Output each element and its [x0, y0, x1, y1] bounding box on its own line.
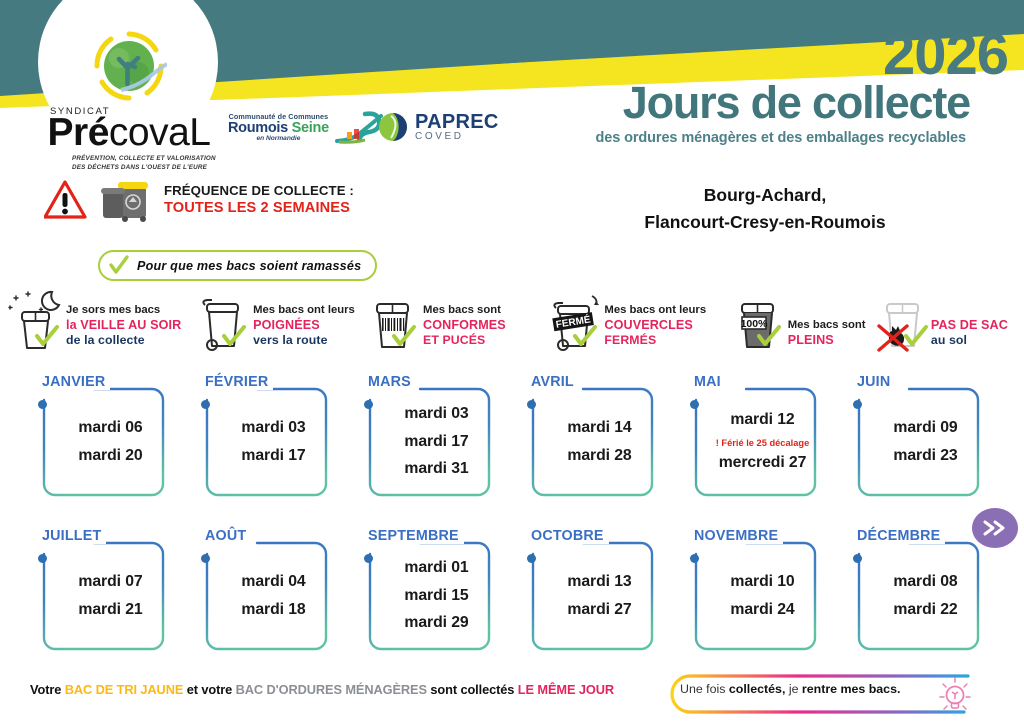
instr-4-line2: COUVERCLES: [604, 318, 706, 333]
roumois-line3: en Normandie: [228, 136, 329, 143]
month-box: mardi 12! Férié le 25 décalagemercredi 2…: [694, 387, 817, 497]
collection-date: mardi 07: [78, 570, 142, 594]
month-name: DÉCEMBRE: [857, 528, 945, 544]
month-dates: mardi 09mardi 23: [857, 387, 980, 497]
instr-5-line1: Mes bacs sont: [788, 319, 866, 333]
month-box: mardi 07mardi 21: [42, 541, 165, 651]
month-marker-dot: [527, 400, 536, 409]
month-box: mardi 06mardi 20: [42, 387, 165, 497]
month-dates: mardi 06mardi 20: [42, 387, 165, 497]
month-dates: mardi 12! Férié le 25 décalagemercredi 2…: [694, 387, 817, 497]
month-name: OCTOBRE: [531, 528, 609, 544]
instruction-item-conformes: Mes bacs sont CONFORMES ET PUCÉS: [365, 288, 546, 352]
instr-5-line2: PLEINS: [788, 333, 866, 348]
month-box: mardi 03mardi 17mardi 31: [368, 387, 491, 497]
instr-2-line2: POIGNÉES: [253, 318, 355, 333]
collection-date: mardi 21: [78, 598, 142, 622]
month-card: OCTOBREmardi 13mardi 27: [511, 528, 674, 680]
month-marker-dot: [201, 400, 210, 409]
communes-heading: Bourg-Achard, Flancourt-Cresy-en-Roumois: [520, 182, 1010, 236]
month-dates: mardi 14mardi 28: [531, 387, 654, 497]
month-card: MAImardi 12! Férié le 25 décalagemercred…: [674, 374, 837, 526]
instr-1-line2: la VEILLE AU SOIR: [66, 318, 181, 333]
collection-date: mardi 17: [241, 444, 305, 468]
calendar-row-first-half: JANVIERmardi 06mardi 20FÉVRIERmardi 03ma…: [22, 374, 1002, 526]
roumois-line2: Roumois Seine: [228, 121, 329, 136]
month-card: AOÛTmardi 04mardi 18: [185, 528, 348, 680]
month-dates: mardi 04mardi 18: [205, 541, 328, 651]
month-name: SEPTEMBRE: [368, 528, 464, 544]
month-box: mardi 08mardi 22: [857, 541, 980, 651]
month-marker-dot: [853, 400, 862, 409]
month-box: mardi 04mardi 18: [205, 541, 328, 651]
month-dates: mardi 07mardi 21: [42, 541, 165, 651]
month-marker-dot: [690, 554, 699, 563]
instruction-item-pas-de-sac: PAS DE SAC au sol: [873, 288, 1018, 352]
collection-date: mardi 01: [404, 556, 468, 580]
month-card: JANVIERmardi 06mardi 20: [22, 374, 185, 526]
green-check-icon: [903, 324, 929, 350]
collection-date: mardi 08: [893, 570, 957, 594]
partner-logo-paprec-coved: PAPREC COVED: [378, 112, 499, 142]
collection-date: mercredi 27: [719, 451, 807, 475]
month-name: MARS: [368, 374, 416, 390]
no-bag-on-ground-icon: [873, 288, 929, 352]
bin-full-100-icon: 100%: [730, 288, 786, 352]
collection-date: mardi 10: [730, 570, 794, 594]
collection-date: mardi 27: [567, 598, 631, 622]
collection-date: mardi 18: [241, 598, 305, 622]
frequency-value: TOUTES LES 2 SEMAINES: [164, 199, 354, 217]
tip-p2: collectés,: [729, 682, 785, 696]
collection-date: mardi 24: [730, 598, 794, 622]
month-name: AOÛT: [205, 528, 251, 544]
collection-date: mardi 04: [241, 570, 305, 594]
month-dates: mardi 01mardi 15mardi 29: [368, 541, 491, 651]
collection-date: mardi 31: [404, 457, 468, 481]
coved-name: COVED: [415, 132, 499, 142]
month-dates: mardi 13mardi 27: [531, 541, 654, 651]
month-box: mardi 13mardi 27: [531, 541, 654, 651]
month-card: SEPTEMBREmardi 01mardi 15mardi 29: [348, 528, 511, 680]
warning-triangle-icon: [44, 179, 88, 221]
collection-calendar: JANVIERmardi 06mardi 20FÉVRIERmardi 03ma…: [22, 374, 1002, 680]
month-card: FÉVRIERmardi 03mardi 17: [185, 374, 348, 526]
lightbulb-icon: [938, 676, 972, 712]
month-card: MARSmardi 03mardi 17mardi 31: [348, 374, 511, 526]
footer-p3: et votre: [183, 682, 235, 697]
instr-2-line1: Mes bacs ont leurs: [253, 304, 355, 318]
calendar-row-second-half: JUILLETmardi 07mardi 21AOÛTmardi 04mardi…: [22, 528, 1002, 680]
month-card: DÉCEMBREmardi 08mardi 22: [837, 528, 1000, 680]
footer-p1: Votre: [30, 682, 65, 697]
tips-pill-label: Pour que mes bacs soient ramassés: [137, 259, 361, 273]
tip-p4: rentre mes bacs.: [802, 682, 901, 696]
bin-barcode-icon: [365, 288, 421, 352]
paprec-globe-icon: [378, 112, 408, 142]
month-name: FÉVRIER: [205, 374, 273, 390]
footer-tip-text: Une fois collectés, je rentre mes bacs.: [680, 682, 930, 696]
tree-recycle-icon: [91, 28, 167, 104]
month-card: JUILLETmardi 07mardi 21: [22, 528, 185, 680]
double-chevron-right-icon[interactable]: [972, 508, 1018, 548]
month-marker-dot: [201, 554, 210, 563]
month-card: JUINmardi 09mardi 23: [837, 374, 1000, 526]
collection-date: mardi 17: [404, 430, 468, 454]
two-bins-icon: [98, 178, 154, 222]
instr-3-line2: CONFORMES: [423, 318, 506, 333]
month-box: mardi 01mardi 15mardi 29: [368, 541, 491, 651]
partner-logo-roumois-seine: Communauté de Communes Roumois Seine en …: [228, 110, 391, 146]
collection-date: mardi 20: [78, 444, 142, 468]
month-box: mardi 10mardi 24: [694, 541, 817, 651]
month-box: mardi 03mardi 17: [205, 387, 328, 497]
month-name: JANVIER: [42, 374, 110, 390]
logo-wordmark: PrécovaL: [34, 113, 224, 152]
instruction-item-pleins: 100% Mes bacs sont PLEINS: [730, 288, 873, 352]
footer-yellow-bin: BAC DE TRI JAUNE: [65, 682, 184, 697]
instr-1-line3: de la collecte: [66, 333, 181, 348]
month-name: JUILLET: [42, 528, 106, 544]
instr-4-line3: FERMÉS: [604, 333, 706, 348]
month-marker-dot: [364, 554, 373, 563]
bin-night-moon-icon: [8, 288, 64, 352]
collection-date: mardi 09: [893, 416, 957, 440]
footer-same-day: LE MÊME JOUR: [518, 682, 614, 697]
collection-date: mardi 12: [730, 408, 794, 432]
commune-line-1: Bourg-Achard,: [520, 182, 1010, 209]
instr-4-line1: Mes bacs ont leurs: [604, 304, 706, 318]
month-dates: mardi 03mardi 17mardi 31: [368, 387, 491, 497]
frequency-label: FRÉQUENCE DE COLLECTE :: [164, 183, 354, 200]
month-box: mardi 14mardi 28: [531, 387, 654, 497]
month-dates: mardi 08mardi 22: [857, 541, 980, 651]
green-check-icon: [108, 254, 130, 278]
instr-3-line3: ET PUCÉS: [423, 333, 506, 348]
instr-6-line3: au sol: [931, 333, 1008, 348]
bin-closed-lid-icon: FERMÉ: [546, 288, 602, 352]
month-marker-dot: [527, 554, 536, 563]
collection-date: mardi 03: [241, 416, 305, 440]
instruction-item-poignees: Mes bacs ont leurs POIGNÉES vers la rout…: [195, 288, 365, 352]
page-year: 2026: [883, 26, 1008, 84]
paprec-name: PAPREC: [415, 112, 499, 132]
collection-date: mardi 22: [893, 598, 957, 622]
collection-date: mardi 06: [78, 416, 142, 440]
bin-handles-icon: [195, 288, 251, 352]
green-check-icon: [391, 324, 417, 350]
month-dates: mardi 03mardi 17: [205, 387, 328, 497]
collection-date: mardi 15: [404, 584, 468, 608]
instr-2-line3: vers la route: [253, 333, 355, 348]
month-name: JUIN: [857, 374, 895, 390]
month-box: mardi 09mardi 23: [857, 387, 980, 497]
month-marker-dot: [38, 400, 47, 409]
month-card: NOVEMBREmardi 10mardi 24: [674, 528, 837, 680]
month-card: AVRILmardi 14mardi 28: [511, 374, 674, 526]
instruction-item-veille-au-soir: Je sors mes bacs la VEILLE AU SOIR de la…: [8, 288, 195, 352]
collection-date: mardi 14: [567, 416, 631, 440]
green-check-icon: [34, 324, 60, 350]
instr-3-line1: Mes bacs sont: [423, 304, 506, 318]
collection-date: mardi 28: [567, 444, 631, 468]
green-check-icon: [572, 324, 598, 350]
collection-date: mardi 23: [893, 444, 957, 468]
month-name: MAI: [694, 374, 726, 390]
green-check-icon: [221, 324, 247, 350]
tip-p1: Une fois: [680, 682, 729, 696]
month-marker-dot: [38, 554, 47, 563]
instr-1-line1: Je sors mes bacs: [66, 304, 181, 318]
footer-same-day-note: Votre BAC DE TRI JAUNE et votre BAC D'OR…: [30, 682, 614, 697]
precoval-logo: SYNDICAT PrécovaL PRÉVENTION, COLLECTE E…: [34, 28, 224, 172]
green-check-icon: [756, 324, 782, 350]
tips-pill: Pour que mes bacs soient ramassés: [98, 250, 377, 281]
collection-date: mardi 13: [567, 570, 631, 594]
footer-p5: sont collectés: [427, 682, 518, 697]
commune-line-2: Flancourt-Cresy-en-Roumois: [520, 209, 1010, 236]
collection-date: mardi 03: [404, 402, 468, 426]
month-dates: mardi 10mardi 24: [694, 541, 817, 651]
instr-6-line2: PAS DE SAC: [931, 318, 1008, 333]
month-holiday-note: ! Férié le 25 décalage: [716, 438, 810, 448]
frequency-notice: FRÉQUENCE DE COLLECTE : TOUTES LES 2 SEM…: [44, 178, 354, 222]
logo-tagline: PRÉVENTION, COLLECTE ET VALORISATION DES…: [72, 155, 224, 172]
month-marker-dot: [690, 400, 699, 409]
footer-tip-box: Une fois collectés, je rentre mes bacs.: [668, 672, 998, 714]
month-name: NOVEMBRE: [694, 528, 783, 544]
footer-household-bin: BAC D'ORDURES MÉNAGÈRES: [236, 682, 427, 697]
month-name: AVRIL: [531, 374, 579, 390]
collection-date: mardi 29: [404, 611, 468, 635]
instructions-row: Je sors mes bacs la VEILLE AU SOIR de la…: [8, 288, 1018, 352]
collection-calendar-page: SYNDICAT PrécovaL PRÉVENTION, COLLECTE E…: [0, 0, 1024, 724]
month-marker-dot: [364, 400, 373, 409]
page-subtitle: des ordures ménagères et des emballages …: [596, 130, 967, 146]
month-marker-dot: [853, 554, 862, 563]
tip-p3: je: [785, 682, 802, 696]
instruction-item-couvercles-fermes: FERMÉ Mes bacs ont leurs COUVERCLES FERM…: [546, 288, 729, 352]
